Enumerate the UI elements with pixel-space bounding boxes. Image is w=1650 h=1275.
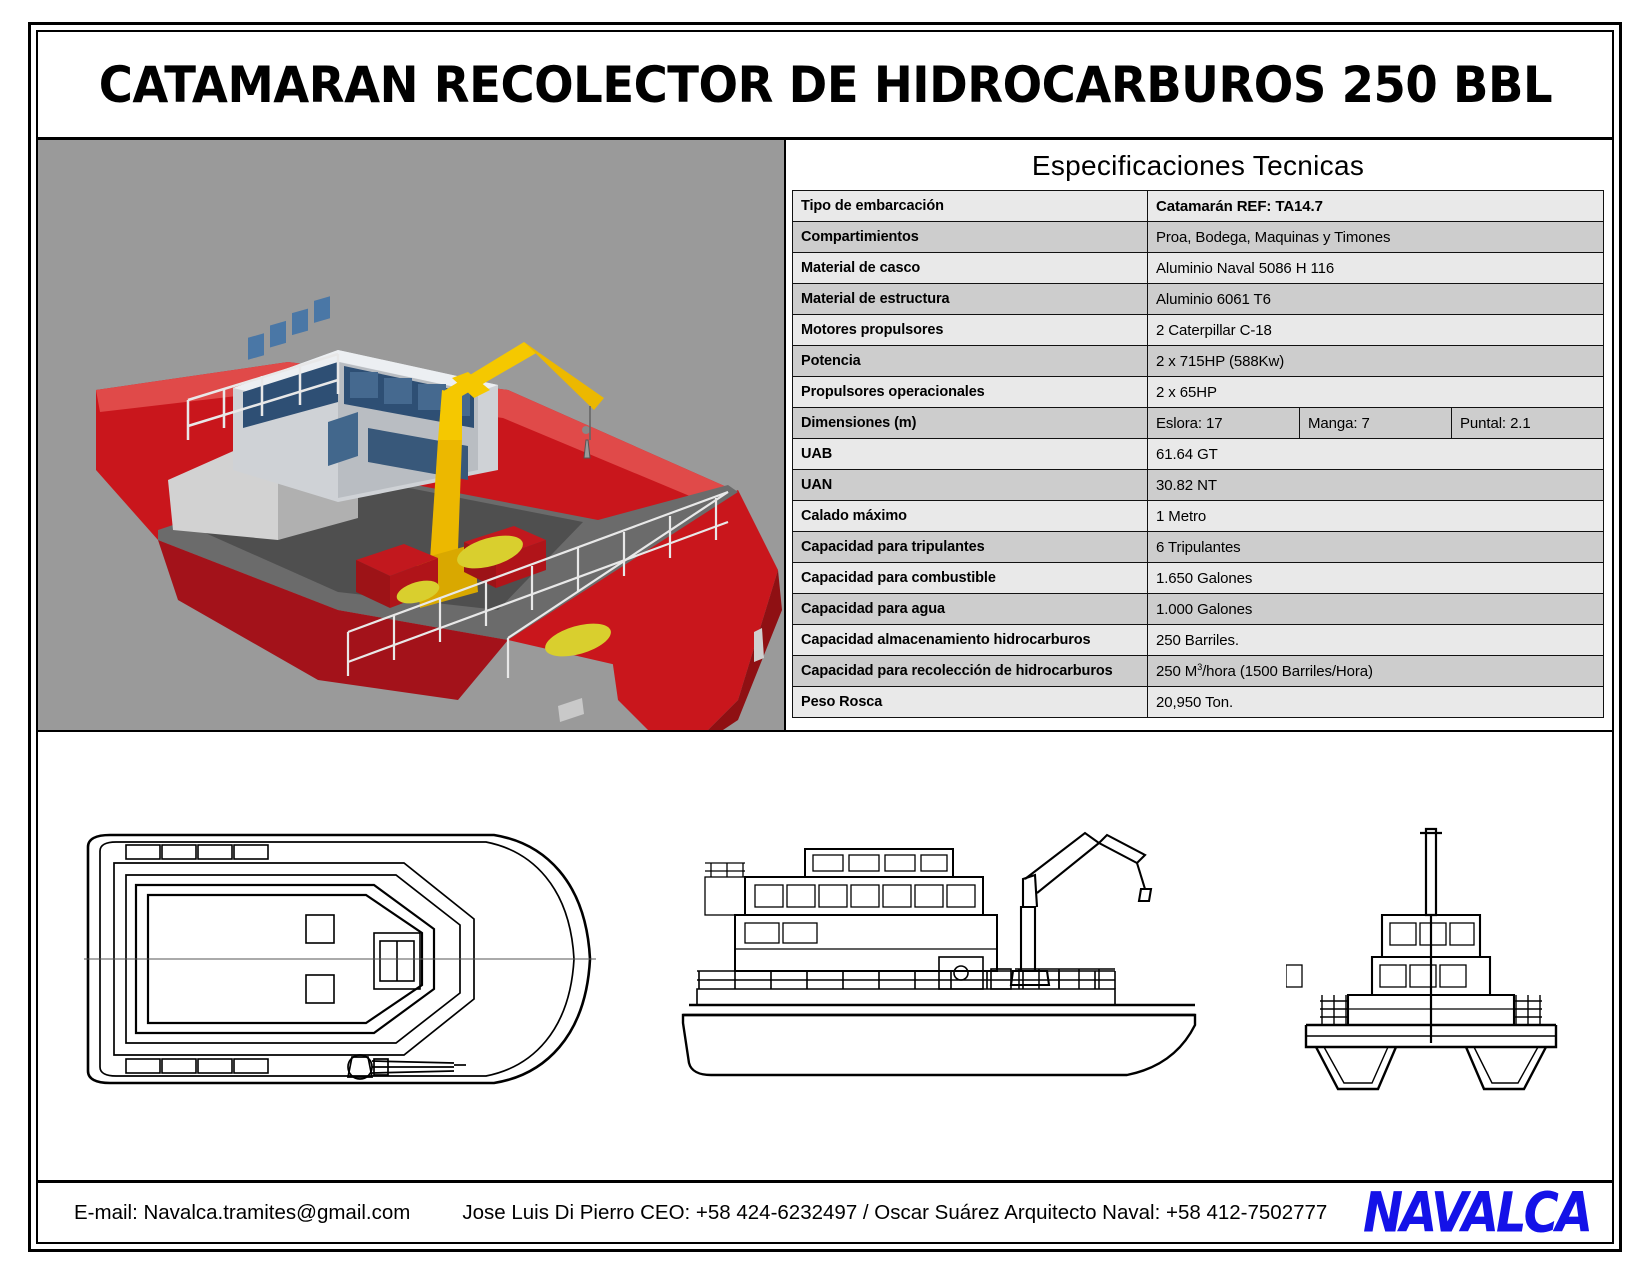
spec-value: Aluminio Naval 5086 H 116 bbox=[1148, 253, 1604, 284]
technical-drawings-row bbox=[38, 730, 1612, 1190]
spec-value: 1 Metro bbox=[1148, 501, 1604, 532]
top-section: Especificaciones Tecnicas Tipo de embarc… bbox=[38, 140, 1612, 730]
spec-label: Peso Rosca bbox=[793, 687, 1148, 718]
spec-row: Potencia2 x 715HP (588Kw) bbox=[793, 346, 1604, 377]
spec-row: Capacidad para combustible1.650 Galones bbox=[793, 563, 1604, 594]
spec-label: Capacidad almacenamiento hidrocarburos bbox=[793, 625, 1148, 656]
spec-label: Capacidad para tripulantes bbox=[793, 532, 1148, 563]
spec-label: Compartimientos bbox=[793, 222, 1148, 253]
spec-row: Capacidad para agua1.000 Galones bbox=[793, 594, 1604, 625]
footer-contacts: Jose Luis Di Pierro CEO: +58 424-6232497… bbox=[462, 1201, 1327, 1225]
spec-value: 1.000 Galones bbox=[1148, 594, 1604, 625]
spec-label: Capacidad para recolección de hidrocarbu… bbox=[793, 656, 1148, 687]
specifications-heading: Especificaciones Tecnicas bbox=[792, 140, 1604, 190]
spec-row: Propulsores operacionales2 x 65HP bbox=[793, 377, 1604, 408]
spec-label: Tipo de embarcación bbox=[793, 191, 1148, 222]
spec-value: 250 M3/hora (1500 Barriles/Hora) bbox=[1148, 656, 1604, 687]
spec-row: CompartimientosProa, Bodega, Maquinas y … bbox=[793, 222, 1604, 253]
spec-row: Motores propulsores2 Caterpillar C-18 bbox=[793, 315, 1604, 346]
spec-label: Capacidad para combustible bbox=[793, 563, 1148, 594]
spec-row: Material de cascoAluminio Naval 5086 H 1… bbox=[793, 253, 1604, 284]
front-view-drawing bbox=[1286, 819, 1576, 1104]
spec-label: UAN bbox=[793, 470, 1148, 501]
spec-value: Catamarán REF: TA14.7 bbox=[1148, 191, 1604, 222]
footer-bar: E-mail: Navalca.tramites@gmail.com Jose … bbox=[38, 1180, 1612, 1242]
navalca-logo: NAVALCA bbox=[1363, 1185, 1594, 1240]
spec-row: UAN30.82 NT bbox=[793, 470, 1604, 501]
spec-value: Aluminio 6061 T6 bbox=[1148, 284, 1604, 315]
spec-row: Capacidad para tripulantes6 Tripulantes bbox=[793, 532, 1604, 563]
sheet-inner-border: CATAMARAN RECOLECTOR DE HIDROCARBUROS 25… bbox=[36, 30, 1614, 1244]
page-title: CATAMARAN RECOLECTOR DE HIDROCARBUROS 25… bbox=[98, 56, 1551, 114]
spec-value: 2 x 65HP bbox=[1148, 377, 1604, 408]
spec-value: 2 x 715HP (588Kw) bbox=[1148, 346, 1604, 377]
spec-value: Proa, Bodega, Maquinas y Timones bbox=[1148, 222, 1604, 253]
spec-value: 20,950 Ton. bbox=[1148, 687, 1604, 718]
drawing-sheet: CATAMARAN RECOLECTOR DE HIDROCARBUROS 25… bbox=[28, 22, 1622, 1252]
spec-row: UAB61.64 GT bbox=[793, 439, 1604, 470]
spec-label: Motores propulsores bbox=[793, 315, 1148, 346]
spec-value-eslora: Eslora: 17 bbox=[1148, 408, 1300, 439]
specifications-panel: Especificaciones Tecnicas Tipo de embarc… bbox=[786, 140, 1612, 730]
spec-value-puntal: Puntal: 2.1 bbox=[1452, 408, 1604, 439]
spec-value: 2 Caterpillar C-18 bbox=[1148, 315, 1604, 346]
spec-label: Capacidad para agua bbox=[793, 594, 1148, 625]
spec-value: 1.650 Galones bbox=[1148, 563, 1604, 594]
spec-row: Peso Rosca20,950 Ton. bbox=[793, 687, 1604, 718]
side-view-drawing bbox=[675, 819, 1215, 1104]
spec-row: Dimensiones (m)Eslora: 17Manga: 7Puntal:… bbox=[793, 408, 1604, 439]
spec-value: 30.82 NT bbox=[1148, 470, 1604, 501]
vessel-render-image bbox=[38, 140, 786, 730]
plan-view-drawing bbox=[74, 829, 604, 1094]
spec-label: Material de estructura bbox=[793, 284, 1148, 315]
spec-label: UAB bbox=[793, 439, 1148, 470]
spec-value-manga: Manga: 7 bbox=[1300, 408, 1452, 439]
footer-email[interactable]: E-mail: Navalca.tramites@gmail.com bbox=[74, 1201, 410, 1225]
specifications-table: Tipo de embarcaciónCatamarán REF: TA14.7… bbox=[792, 190, 1604, 718]
spec-label: Dimensiones (m) bbox=[793, 408, 1148, 439]
spec-label: Propulsores operacionales bbox=[793, 377, 1148, 408]
spec-row: Material de estructuraAluminio 6061 T6 bbox=[793, 284, 1604, 315]
spec-value: 61.64 GT bbox=[1148, 439, 1604, 470]
catamaran-3d-illustration bbox=[38, 140, 786, 730]
title-bar: CATAMARAN RECOLECTOR DE HIDROCARBUROS 25… bbox=[38, 32, 1612, 140]
spec-label: Material de casco bbox=[793, 253, 1148, 284]
spec-row: Capacidad para recolección de hidrocarbu… bbox=[793, 656, 1604, 687]
spec-row: Calado máximo1 Metro bbox=[793, 501, 1604, 532]
spec-value: 250 Barriles. bbox=[1148, 625, 1604, 656]
spec-value: 6 Tripulantes bbox=[1148, 532, 1604, 563]
spec-label: Calado máximo bbox=[793, 501, 1148, 532]
spec-row: Tipo de embarcaciónCatamarán REF: TA14.7 bbox=[793, 191, 1604, 222]
spec-label: Potencia bbox=[793, 346, 1148, 377]
spec-row: Capacidad almacenamiento hidrocarburos25… bbox=[793, 625, 1604, 656]
